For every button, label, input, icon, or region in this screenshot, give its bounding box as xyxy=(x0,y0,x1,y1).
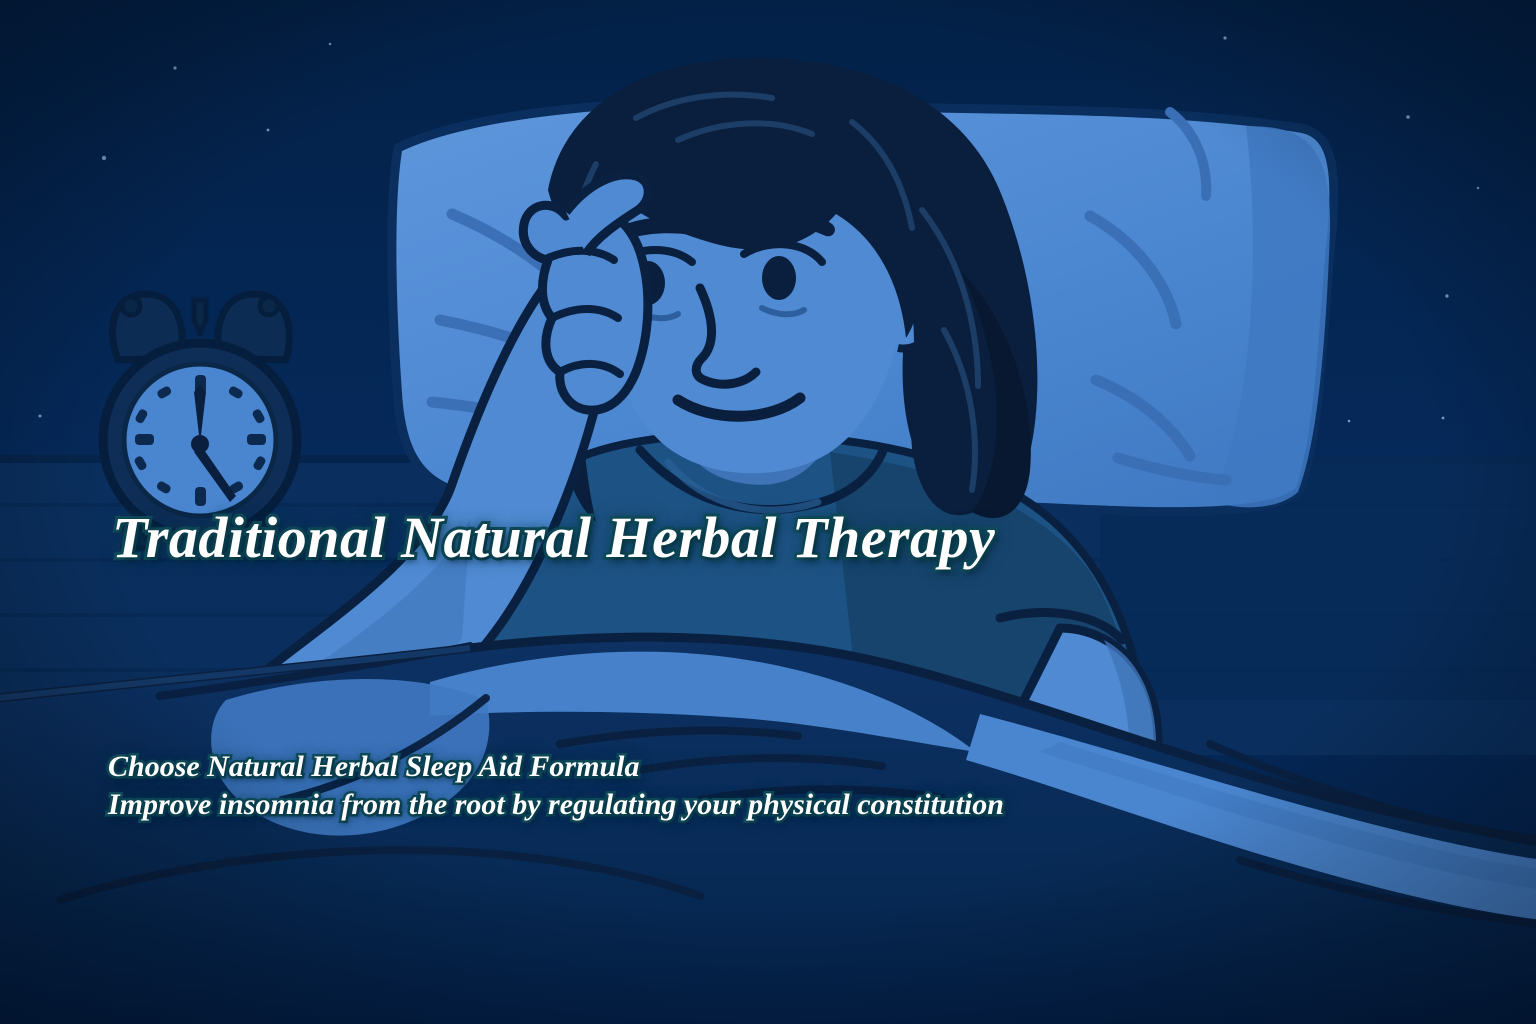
insomnia-illustration xyxy=(0,0,1536,1024)
poster-canvas: Traditional Natural Herbal Therapy Choos… xyxy=(0,0,1536,1024)
